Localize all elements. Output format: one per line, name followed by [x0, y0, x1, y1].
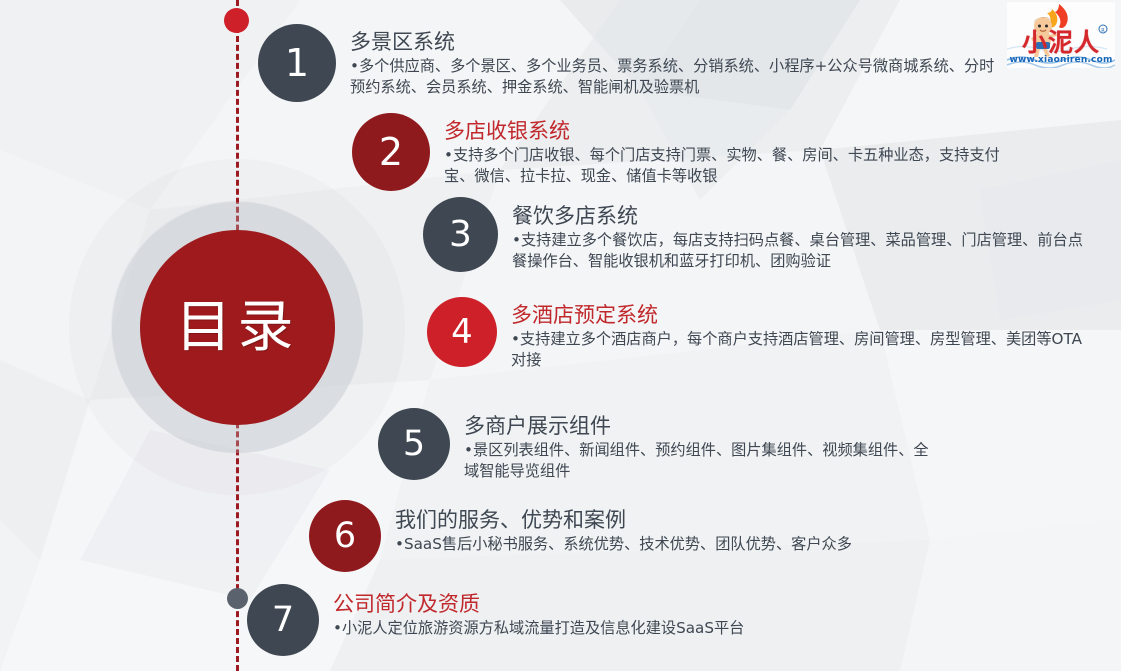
toc-item-1[interactable]: 1 多景区系统 •多个供应商、多个景区、多个业务员、票务系统、分销系统、小程序+… [258, 24, 1002, 102]
item-number-badge-5: 5 [378, 408, 450, 480]
item-text-2: 多店收银系统 •支持多个门店收银、每个门店支持门票、实物、餐、房间、卡五种业态，… [430, 113, 1019, 188]
item-number-badge-6: 6 [309, 500, 381, 572]
item-number-badge-3: 3 [423, 197, 498, 272]
item-heading-1: 多景区系统 [350, 30, 1002, 55]
item-heading-5: 多商户展示组件 [464, 414, 939, 439]
item-body-3: •支持建立多个餐饮店，每店支持扫码点餐、桌台管理、菜品管理、门店管理、前台点餐操… [512, 230, 1087, 273]
item-number-badge-1: 1 [258, 24, 336, 102]
item-heading-6: 我们的服务、优势和案例 [395, 508, 852, 533]
item-text-1: 多景区系统 •多个供应商、多个景区、多个业务员、票务系统、分销系统、小程序+公众… [336, 24, 1002, 99]
item-number-badge-4: 4 [427, 297, 497, 367]
item-body-2: •支持多个门店收银、每个门店支持门票、实物、餐、房间、卡五种业态，支持支付宝、微… [444, 145, 1019, 188]
toc-item-2[interactable]: 2 多店收银系统 •支持多个门店收银、每个门店支持门票、实物、餐、房间、卡五种业… [352, 113, 1019, 191]
toc-item-4[interactable]: 4 多酒店预定系统 •支持建立多个酒店商户，每个商户支持酒店管理、房间管理、房型… [427, 297, 1086, 372]
item-body-1: •多个供应商、多个景区、多个业务员、票务系统、分销系统、小程序+公众号微商城系统… [350, 56, 1002, 99]
item-body-5: •景区列表组件、新闻组件、预约组件、图片集组件、视频集组件、全域智能导览组件 [464, 440, 939, 483]
item-heading-2: 多店收银系统 [444, 119, 1019, 144]
timeline-start-dot [224, 8, 249, 33]
toc-hub: 目录 [140, 230, 335, 425]
item-text-7: 公司简介及资质 •小泥人定位旅游资源方私域流量打造及信息化建设SaaS平台 [319, 584, 744, 639]
item-heading-4: 多酒店预定系统 [511, 303, 1086, 328]
svg-text:R: R [1101, 28, 1105, 34]
toc-item-6[interactable]: 6 我们的服务、优势和案例 •SaaS售后小秘书服务、系统优势、技术优势、团队优… [309, 500, 852, 572]
item-text-6: 我们的服务、优势和案例 •SaaS售后小秘书服务、系统优势、技术优势、团队优势、… [381, 500, 852, 555]
item-body-6: •SaaS售后小秘书服务、系统优势、技术优势、团队优势、客户众多 [395, 534, 852, 556]
toc-item-3[interactable]: 3 餐饮多店系统 •支持建立多个餐饮店，每店支持扫码点餐、桌台管理、菜品管理、门… [423, 197, 1087, 273]
item-number-badge-7: 7 [247, 584, 319, 656]
item-body-4: •支持建立多个酒店商户，每个商户支持酒店管理、房间管理、房型管理、美团等OTA对… [511, 329, 1086, 372]
toc-item-7[interactable]: 7 公司简介及资质 •小泥人定位旅游资源方私域流量打造及信息化建设SaaS平台 [247, 584, 744, 656]
item-heading-7: 公司简介及资质 [333, 592, 744, 617]
hub-title: 目录 [176, 300, 300, 356]
toc-item-5[interactable]: 5 多商户展示组件 •景区列表组件、新闻组件、预约组件、图片集组件、视频集组件、… [378, 408, 939, 483]
logo-url-text: www.xiaoniren.com [1009, 56, 1112, 65]
item-number-badge-2: 2 [352, 113, 430, 191]
item-heading-3: 餐饮多店系统 [512, 204, 1087, 229]
timeline-end-dot [227, 588, 248, 609]
item-text-3: 餐饮多店系统 •支持建立多个餐饮店，每店支持扫码点餐、桌台管理、菜品管理、门店管… [498, 197, 1087, 273]
item-text-5: 多商户展示组件 •景区列表组件、新闻组件、预约组件、图片集组件、视频集组件、全域… [450, 408, 939, 483]
company-logo[interactable]: R 小泥人 www.xiaoniren.com [1007, 2, 1115, 68]
logo-brand-text: 小泥人 [1022, 30, 1100, 55]
item-body-7: •小泥人定位旅游资源方私域流量打造及信息化建设SaaS平台 [333, 618, 744, 640]
toc-slide: 目录 1 多景区系统 •多个供应商、多个景区、多个业务员、票务系统、分销系统、小… [0, 0, 1121, 671]
item-text-4: 多酒店预定系统 •支持建立多个酒店商户，每个商户支持酒店管理、房间管理、房型管理… [497, 297, 1086, 372]
